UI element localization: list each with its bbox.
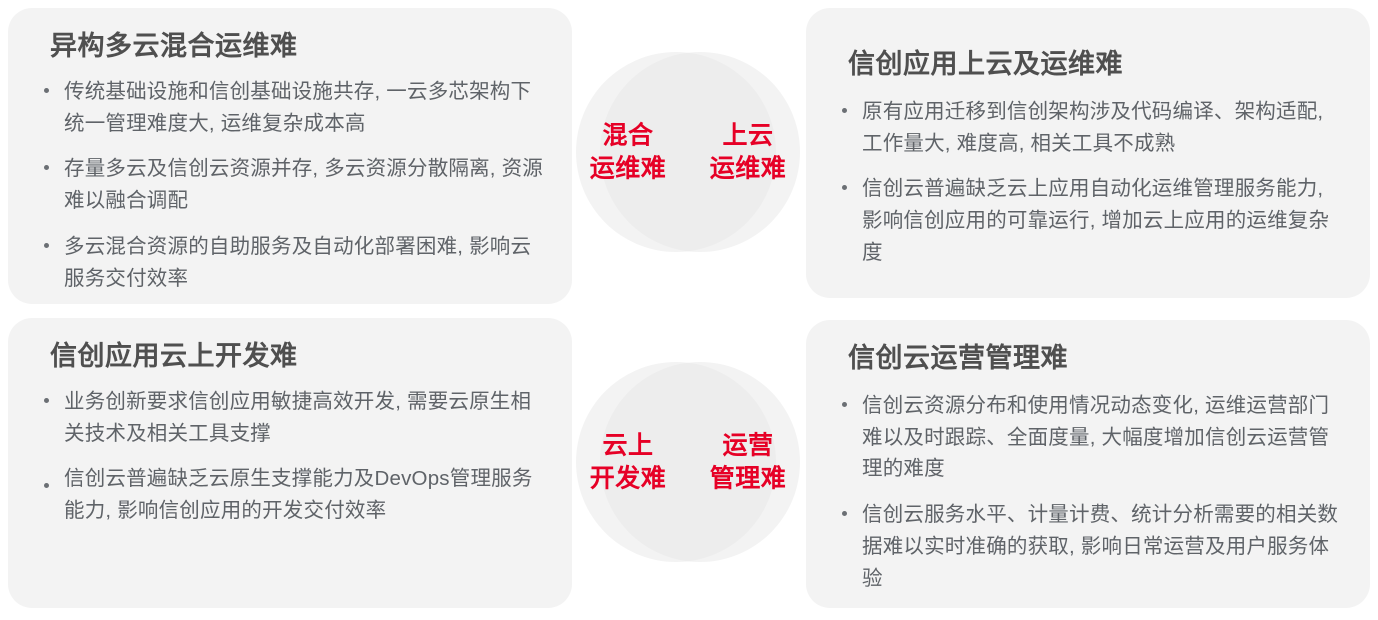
card-title: 信创云运营管理难 xyxy=(848,342,1342,376)
list-item-text: 信创云资源分布和使用情况动态变化, 运维运营部门难以及时跟踪、全面度量, 大幅度… xyxy=(862,394,1329,481)
list-item-text: 业务创新要求信创应用敏捷高效开发, 需要云原生相关技术及相关工具支撑 xyxy=(64,390,531,445)
bullet-dot-icon xyxy=(44,243,49,248)
list-item-text: 多云混合资源的自助服务及自动化部署困难, 影响云服务交付效率 xyxy=(64,235,531,290)
card-title: 信创应用上云及运维难 xyxy=(848,48,1342,82)
venn-label-cloud-development: 云上 开发难 xyxy=(572,430,684,495)
list-item: 信创云普遍缺乏云原生支撑能力及DevOps管理服务能力, 影响信创应用的开发交付… xyxy=(40,463,544,527)
list-item-text: 信创云普遍缺乏云原生支撑能力及DevOps管理服务能力, 影响信创应用的开发交付… xyxy=(64,467,533,522)
venn-label-cloud-migration-ops: 上云 运维难 xyxy=(692,120,804,185)
venn-diagram-top: 混合 运维难 上云 运维难 xyxy=(576,52,800,252)
bullet-dot-icon xyxy=(842,402,847,407)
bullet-dot-icon xyxy=(44,483,49,488)
bullet-list: 原有应用迁移到信创架构涉及代码编译、架构适配, 工作量大, 难度高, 相关工具不… xyxy=(838,96,1342,269)
list-item: 业务创新要求信创应用敏捷高效开发, 需要云原生相关技术及相关工具支撑 xyxy=(40,386,544,450)
bullet-dot-icon xyxy=(842,511,847,516)
list-item-text: 传统基础设施和信创基础设施共存, 一云多芯架构下统一管理难度大, 运维复杂成本高 xyxy=(64,80,531,135)
bullet-dot-icon xyxy=(842,108,847,113)
list-item: 原有应用迁移到信创架构涉及代码编译、架构适配, 工作量大, 难度高, 相关工具不… xyxy=(838,96,1342,160)
bullet-dot-icon xyxy=(842,185,847,190)
card-cloud-operations-management: 信创云运营管理难 信创云资源分布和使用情况动态变化, 运维运营部门难以及时跟踪、… xyxy=(806,320,1370,608)
card-heterogeneous-multicloud-ops: 异构多云混合运维难 传统基础设施和信创基础设施共存, 一云多芯架构下统一管理难度… xyxy=(8,8,572,304)
card-app-cloud-migration-ops: 信创应用上云及运维难 原有应用迁移到信创架构涉及代码编译、架构适配, 工作量大,… xyxy=(806,8,1370,298)
bullet-list: 业务创新要求信创应用敏捷高效开发, 需要云原生相关技术及相关工具支撑 信创云普遍… xyxy=(40,386,544,527)
venn-diagram-bottom: 云上 开发难 运营 管理难 xyxy=(576,362,800,562)
list-item-text: 信创云普遍缺乏云上应用自动化运维管理服务能力, 影响信创应用的可靠运行, 增加云… xyxy=(862,177,1329,264)
list-item-text: 信创云服务水平、计量计费、统计分析需要的相关数据难以实时准确的获取, 影响日常运… xyxy=(862,503,1338,590)
card-title: 异构多云混合运维难 xyxy=(50,30,544,64)
list-item: 信创云普遍缺乏云上应用自动化运维管理服务能力, 影响信创应用的可靠运行, 增加云… xyxy=(838,173,1342,268)
list-item-text: 原有应用迁移到信创架构涉及代码编译、架构适配, 工作量大, 难度高, 相关工具不… xyxy=(862,100,1323,155)
list-item: 传统基础设施和信创基础设施共存, 一云多芯架构下统一管理难度大, 运维复杂成本高 xyxy=(40,76,544,140)
list-item: 信创云资源分布和使用情况动态变化, 运维运营部门难以及时跟踪、全面度量, 大幅度… xyxy=(838,390,1342,485)
card-title: 信创应用云上开发难 xyxy=(50,340,544,374)
list-item: 信创云服务水平、计量计费、统计分析需要的相关数据难以实时准确的获取, 影响日常运… xyxy=(838,499,1342,594)
bullet-dot-icon xyxy=(44,88,49,93)
bullet-list: 信创云资源分布和使用情况动态变化, 运维运营部门难以及时跟踪、全面度量, 大幅度… xyxy=(838,390,1342,595)
list-item: 多云混合资源的自助服务及自动化部署困难, 影响云服务交付效率 xyxy=(40,231,544,295)
card-cloud-native-development: 信创应用云上开发难 业务创新要求信创应用敏捷高效开发, 需要云原生相关技术及相关… xyxy=(8,318,572,608)
venn-label-operations-management: 运营 管理难 xyxy=(692,430,804,495)
bullet-dot-icon xyxy=(44,165,49,170)
infographic-canvas: 异构多云混合运维难 传统基础设施和信创基础设施共存, 一云多芯架构下统一管理难度… xyxy=(0,0,1378,620)
list-item-text: 存量多云及信创云资源并存, 多云资源分散隔离, 资源难以融合调配 xyxy=(64,157,543,212)
bullet-dot-icon xyxy=(44,398,49,403)
list-item: 存量多云及信创云资源并存, 多云资源分散隔离, 资源难以融合调配 xyxy=(40,153,544,217)
bullet-list: 传统基础设施和信创基础设施共存, 一云多芯架构下统一管理难度大, 运维复杂成本高… xyxy=(40,76,544,295)
venn-label-hybrid-ops: 混合 运维难 xyxy=(572,120,684,185)
